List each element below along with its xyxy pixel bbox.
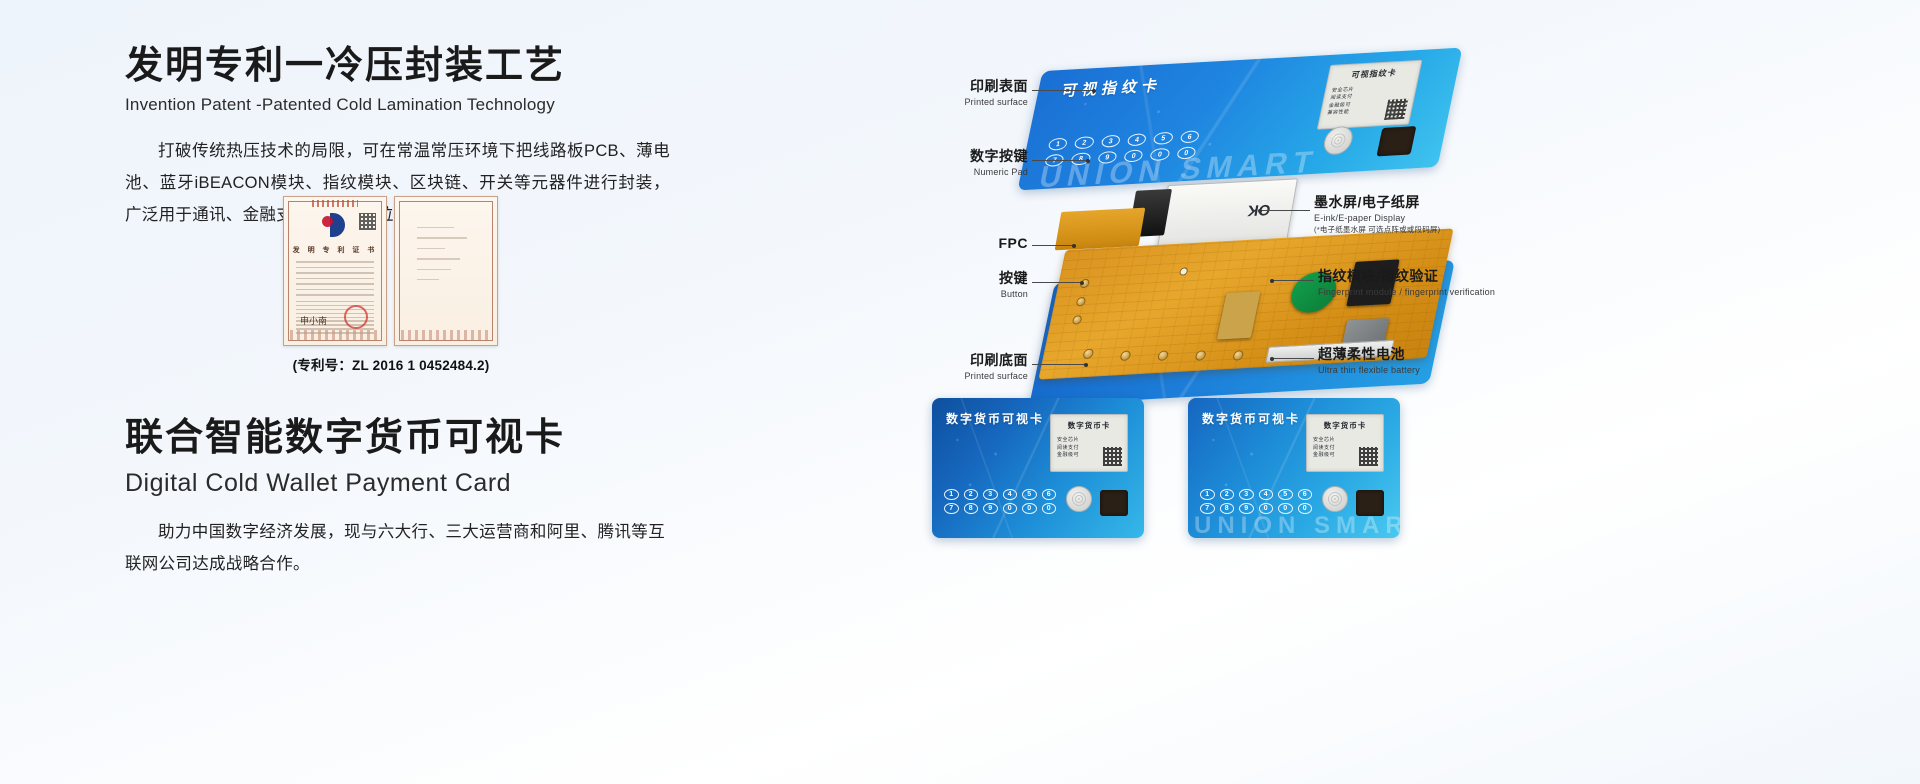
screen-qr-icon <box>1103 447 1122 466</box>
key-star[interactable]: 0 <box>1278 503 1293 514</box>
callout-label-cn: 印刷底面 <box>908 350 1028 370</box>
key-4[interactable]: 4 <box>1259 489 1274 500</box>
callout-label-en: Fingerprint module / fingerprint verific… <box>1318 287 1578 297</box>
screen-title: 可视指纹卡 <box>1328 66 1420 82</box>
screen-line-1: 安全芯片 <box>1313 437 1335 445</box>
key-hash[interactable]: 0 <box>1176 146 1197 159</box>
callout-label-en: E-ink/E-paper Display <box>1314 213 1574 223</box>
callout-fingerprint-module: 指纹模块/指纹验证 Fingerprint module / fingerpri… <box>1318 266 1578 297</box>
key-5[interactable]: 5 <box>1278 489 1293 500</box>
key-3[interactable]: 3 <box>1239 489 1254 500</box>
callout-label-en: Printed surface <box>908 371 1028 381</box>
leader-line-printed-surface-top <box>1032 90 1094 91</box>
page-root: 发明专利一冷压封装工艺 Invention Patent -Patented C… <box>0 0 1920 784</box>
certificate-bottom-ornament-icon <box>290 330 380 340</box>
section-1-title-en: Invention Patent -Patented Cold Laminati… <box>125 95 725 115</box>
screen-text-lines: 安全芯片 阅读支付 金融级可 兼容性能 <box>1326 87 1354 118</box>
key-4[interactable]: 4 <box>1127 133 1148 146</box>
screen-line-1: 安全芯片 <box>1057 437 1079 445</box>
numeric-keypad[interactable]: 1 2 3 4 5 6 7 8 9 0 0 0 <box>1200 489 1312 514</box>
callout-eink-display: 墨水屏/电子纸屏 E-ink/E-paper Display (*电子纸墨水屏 … <box>1314 192 1574 235</box>
patent-certificate-images: 发 明 专 利 证 书 申小南 <box>283 196 498 346</box>
screen-line-3: 金融级可 <box>1313 452 1335 460</box>
callout-label-en: Numeric Pad <box>918 167 1028 177</box>
screen-title: 数字货币卡 <box>1307 420 1383 431</box>
key-8[interactable]: 8 <box>1220 503 1235 514</box>
card-brand-label: 数字货币可视卡 <box>1202 410 1300 427</box>
callout-label-en: Ultra thin flexible battery <box>1318 365 1548 375</box>
leader-line-fingerprint-module <box>1272 280 1314 281</box>
certificate-title: 发 明 专 利 证 书 <box>284 245 386 255</box>
digital-currency-card-left: 数字货币可视卡 数字货币卡 安全芯片 阅读支付 金融级可 1 2 3 4 5 6… <box>932 398 1144 538</box>
section-1-title-cn: 发明专利一冷压封装工艺 <box>125 45 725 89</box>
screen-line-2: 阅读支付 <box>1313 445 1335 453</box>
qr-code-icon <box>359 213 376 230</box>
callout-flexible-battery: 超薄柔性电池 Ultra thin flexible battery <box>1318 344 1548 375</box>
key-0[interactable]: 0 <box>1123 149 1144 162</box>
card-eink-screen: 可视指纹卡 安全芯片 阅读支付 金融级可 兼容性能 <box>1317 60 1423 130</box>
key-9[interactable]: 9 <box>1239 503 1254 514</box>
screen-title: 数字货币卡 <box>1051 420 1127 431</box>
card-eink-screen: 数字货币卡 安全芯片 阅读支付 金融级可 <box>1306 414 1384 472</box>
key-9[interactable]: 9 <box>983 503 998 514</box>
eink-flex-cable <box>1055 208 1146 251</box>
key-3[interactable]: 3 <box>1100 135 1121 148</box>
exploded-card-diagram: 可视指纹卡 UNION SMART 可视指纹卡 安全芯片 阅读支付 金融级可 兼… <box>900 40 1910 620</box>
screen-text-lines: 安全芯片 阅读支付 金融级可 <box>1057 437 1079 460</box>
key-5[interactable]: 5 <box>1153 132 1174 145</box>
certificate-signature: 申小南 <box>300 314 327 327</box>
fingerprint-sensor-square[interactable] <box>1356 490 1384 516</box>
patent-number: (专利号：ZL 2016 1 0452484.2) <box>283 354 499 374</box>
callout-label-cn: 超薄柔性电池 <box>1318 344 1548 364</box>
callout-label-note: (*电子纸墨水屏 可选点阵或或段码屏) <box>1314 224 1574 235</box>
official-seal-icon <box>344 305 368 329</box>
callout-numeric-pad: 数字按键 Numeric Pad <box>918 146 1028 177</box>
key-2[interactable]: 2 <box>1074 136 1095 149</box>
key-6[interactable]: 6 <box>1042 489 1057 500</box>
callout-fpc: FPC <box>918 235 1028 251</box>
leader-line-eink-display <box>1260 210 1310 211</box>
certificate-field-lines <box>296 261 374 300</box>
key-star[interactable]: 0 <box>1149 148 1170 161</box>
patent-certificate-back <box>394 196 498 346</box>
visual-fingerprint-card-top: 可视指纹卡 UNION SMART 可视指纹卡 安全芯片 阅读支付 金融级可 兼… <box>1017 48 1462 191</box>
key-2[interactable]: 2 <box>1220 489 1235 500</box>
key-3[interactable]: 3 <box>983 489 998 500</box>
card-brand-label: 数字货币可视卡 <box>946 410 1044 427</box>
key-1[interactable]: 1 <box>1200 489 1215 500</box>
key-0[interactable]: 0 <box>1003 503 1018 514</box>
screen-line-3: 金融级可 <box>1057 452 1079 460</box>
round-sensor-icon <box>1066 486 1092 512</box>
callout-label-cn: 按键 <box>918 268 1028 288</box>
callout-label-cn: 数字按键 <box>918 146 1028 166</box>
section-2-body: 助力中国数字经济发展，现与六大行、三大运营商和阿里、腾讯等互联网公司达成战略合作… <box>125 516 665 580</box>
fingerprint-sensor-square[interactable] <box>1100 490 1128 516</box>
fingerprint-sensor-square[interactable] <box>1376 126 1416 156</box>
screen-qr-icon <box>1359 447 1378 466</box>
section-2-title-en: Digital Cold Wallet Payment Card <box>125 468 725 498</box>
leader-line-flexible-battery <box>1272 358 1314 359</box>
callout-label-cn: 印刷表面 <box>918 76 1028 96</box>
key-5[interactable]: 5 <box>1022 489 1037 500</box>
key-star[interactable]: 0 <box>1022 503 1037 514</box>
patent-certificate-front: 发 明 专 利 证 书 申小南 <box>283 196 387 346</box>
key-0[interactable]: 0 <box>1259 503 1274 514</box>
key-1[interactable]: 1 <box>1048 138 1069 151</box>
screen-text-lines: 安全芯片 阅读支付 金融级可 <box>1313 437 1335 460</box>
key-hash[interactable]: 0 <box>1042 503 1057 514</box>
key-4[interactable]: 4 <box>1003 489 1018 500</box>
leader-line-numeric-pad <box>1032 160 1088 161</box>
callout-label-en: Button <box>918 289 1028 299</box>
key-7[interactable]: 7 <box>1200 503 1215 514</box>
key-hash[interactable]: 0 <box>1298 503 1313 514</box>
callout-label-en: Printed surface <box>918 97 1028 107</box>
key-6[interactable]: 6 <box>1298 489 1313 500</box>
screen-line-2: 阅读支付 <box>1057 445 1079 453</box>
key-2[interactable]: 2 <box>964 489 979 500</box>
certificate-ornament-icon <box>312 200 358 207</box>
key-1[interactable]: 1 <box>944 489 959 500</box>
callout-label-cn: 指纹模块/指纹验证 <box>1318 266 1578 286</box>
callout-label-cn: 墨水屏/电子纸屏 <box>1314 192 1574 212</box>
section-2-title-cn: 联合智能数字货币可视卡 <box>125 417 725 461</box>
callout-label-cn: FPC <box>918 235 1028 251</box>
key-9[interactable]: 9 <box>1097 151 1118 164</box>
patent-office-logo-icon <box>322 213 348 239</box>
screen-line-4: 兼容性能 <box>1326 109 1350 118</box>
round-sensor-icon <box>1322 486 1348 512</box>
screen-qr-icon <box>1384 99 1408 120</box>
certificate-back-lines <box>417 227 479 289</box>
callout-printed-surface-bottom: 印刷底面 Printed surface <box>908 350 1028 381</box>
key-7[interactable]: 7 <box>944 503 959 514</box>
leader-line-button <box>1032 282 1082 283</box>
callout-button: 按键 Button <box>918 268 1028 299</box>
numeric-keypad[interactable]: 1 2 3 4 5 6 7 8 9 0 0 0 <box>944 489 1056 514</box>
digital-currency-card-right: 数字货币可视卡 UNION SMART 数字货币卡 安全芯片 阅读支付 金融级可… <box>1188 398 1400 538</box>
callout-printed-surface-top: 印刷表面 Printed surface <box>918 76 1028 107</box>
leader-line-printed-surface-bottom <box>1032 364 1086 365</box>
leader-line-fpc <box>1032 245 1074 246</box>
card-eink-screen: 数字货币卡 安全芯片 阅读支付 金融级可 <box>1050 414 1128 472</box>
key-8[interactable]: 8 <box>964 503 979 514</box>
certificate-back-bottom-ornament-icon <box>401 330 491 340</box>
key-6[interactable]: 6 <box>1179 130 1200 143</box>
